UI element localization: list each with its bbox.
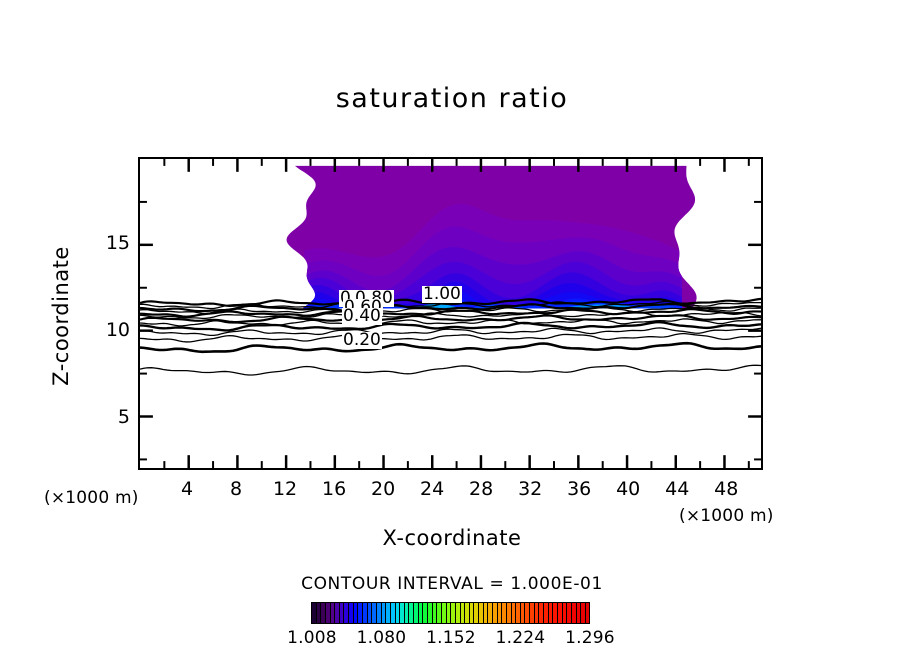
- x-tick-label: 40: [606, 478, 650, 500]
- colorbar-tick-label: 1.008: [281, 628, 343, 648]
- colorbar-tick-label: 1.080: [351, 628, 413, 648]
- plot-frame: 1.000.900.800.600.400.20: [138, 157, 763, 470]
- colorbar-tick-label: 1.224: [490, 628, 552, 648]
- z-axis-unit-label: (×1000 m): [44, 488, 139, 508]
- y-tick-label: 15: [88, 232, 130, 254]
- y-tick-label: 5: [88, 406, 130, 428]
- x-tick-label: 36: [557, 478, 601, 500]
- contour-label: 0.20: [342, 332, 382, 349]
- colorbar-band: [586, 603, 590, 623]
- x-axis-label: X-coordinate: [0, 526, 904, 550]
- x-tick-label: 8: [214, 478, 258, 500]
- x-tick-label: 28: [459, 478, 503, 500]
- colorbar: [311, 602, 590, 624]
- contour-label: 1.00: [422, 286, 462, 303]
- y-axis-label: Z-coordinate: [49, 231, 73, 401]
- x-tick-label: 32: [508, 478, 552, 500]
- x-tick-label: 20: [361, 478, 405, 500]
- x-tick-label: 12: [263, 478, 307, 500]
- contour-label-layer: 1.000.900.800.600.400.20: [140, 159, 761, 468]
- x-tick-label: 16: [312, 478, 356, 500]
- x-tick-label: 24: [410, 478, 454, 500]
- figure-canvas: saturation ratio Z-coordinate X-coordina…: [0, 0, 904, 654]
- page-title: saturation ratio: [0, 83, 904, 114]
- x-axis-unit-label: (×1000 m): [679, 506, 774, 526]
- contour-interval-caption: CONTOUR INTERVAL = 1.000E-01: [0, 574, 904, 594]
- x-tick-label: 48: [704, 478, 748, 500]
- contour-label: 0.40: [342, 308, 382, 325]
- x-tick-label: 4: [165, 478, 209, 500]
- x-tick-label: 44: [655, 478, 699, 500]
- colorbar-tick-labels: 1.0081.0801.1521.2241.296: [281, 628, 621, 648]
- y-tick-label: 10: [88, 319, 130, 341]
- colorbar-tick-label: 1.296: [559, 628, 621, 648]
- colorbar-tick-label: 1.152: [420, 628, 482, 648]
